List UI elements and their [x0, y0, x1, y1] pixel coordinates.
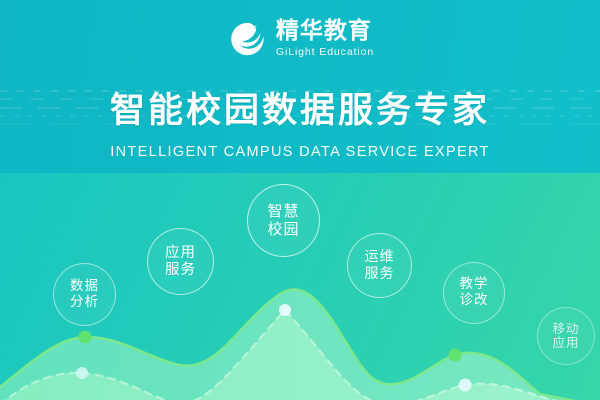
swoosh-wave-icon	[226, 18, 268, 60]
node-label-line1: 运维	[365, 249, 395, 265]
node-data-analysis[interactable]: 数据 分析	[53, 263, 116, 326]
node-label-line2: 诊改	[460, 293, 489, 309]
brand-name-cn: 精华教育	[276, 20, 372, 43]
brand-logo-text: 精华教育 GiLight Education	[276, 20, 374, 58]
marker-solid-1	[79, 331, 92, 344]
node-mobile-app[interactable]: 移动 应用	[537, 307, 595, 365]
marker-dashed-2	[279, 304, 291, 316]
page-subtitle: INTELLIGENT CAMPUS DATA SERVICE EXPERT	[0, 144, 600, 160]
banner-canvas: 精华教育 GiLight Education 智能校园数据服务专家 INTELL…	[0, 0, 600, 400]
node-label-line2: 校园	[267, 221, 299, 238]
node-label-line2: 应用	[552, 336, 579, 350]
node-label-line1: 教学	[460, 277, 489, 293]
node-label-line1: 移动	[552, 322, 579, 336]
node-label-line1: 智慧	[267, 203, 299, 220]
marker-solid-2	[449, 349, 462, 362]
node-ops-service[interactable]: 运维 服务	[347, 233, 412, 298]
node-teaching-diagnosis[interactable]: 教学 诊改	[443, 262, 505, 324]
node-app-service[interactable]: 应用 服务	[147, 228, 214, 295]
node-smart-campus[interactable]: 智慧 校园	[247, 184, 320, 257]
node-label-line1: 数据	[70, 279, 99, 295]
brand-logo[interactable]: 精华教育 GiLight Education	[0, 14, 600, 64]
node-label-line2: 服务	[165, 262, 196, 279]
node-label-line2: 服务	[365, 266, 395, 282]
node-label-line2: 分析	[70, 295, 99, 311]
brand-name-en: GiLight Education	[276, 47, 374, 58]
marker-dashed-1	[76, 367, 88, 379]
page-title: 智能校园数据服务专家	[0, 93, 600, 130]
marker-dashed-3	[459, 379, 472, 392]
node-label-line1: 应用	[165, 245, 196, 262]
